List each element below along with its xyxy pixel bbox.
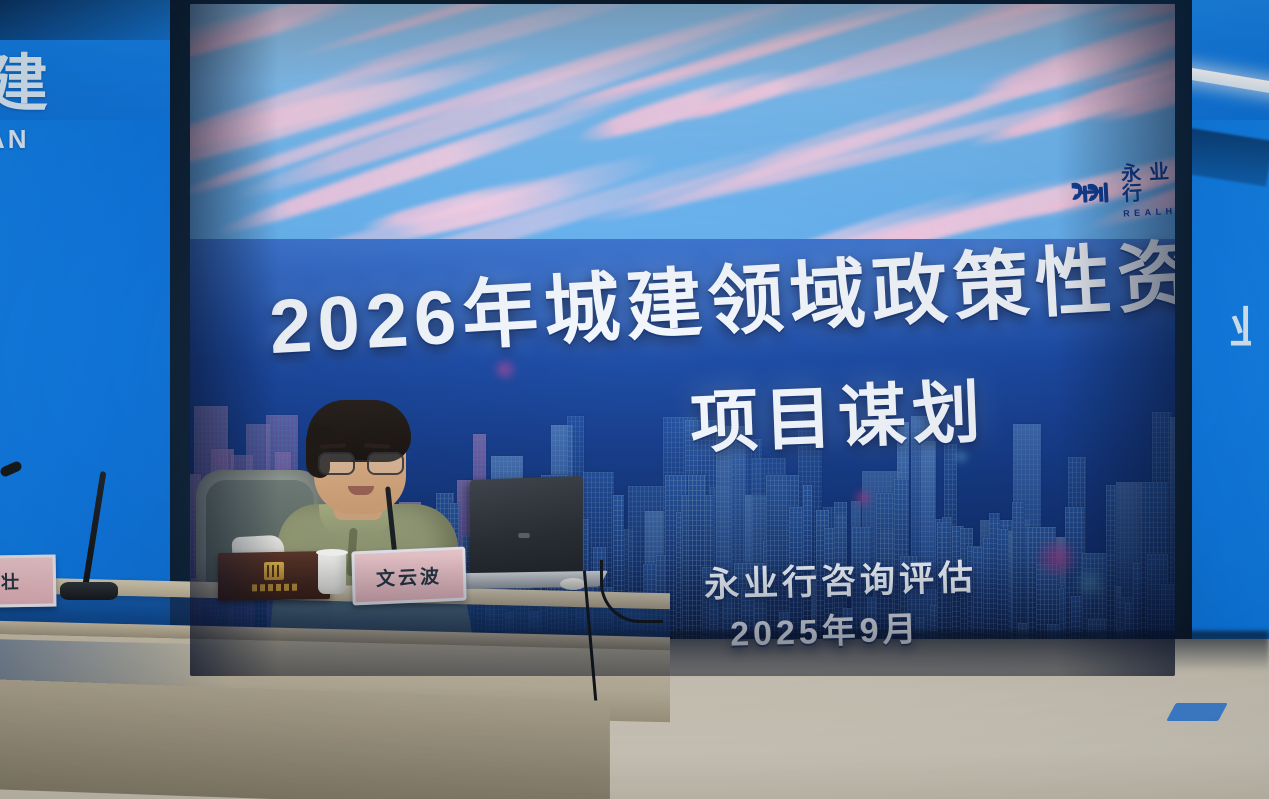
nameplate-secondary-label: 壮: [1, 568, 19, 594]
left-wall-sign-cn: 建: [0, 54, 58, 116]
left-wall-sign: 建 AN: [0, 54, 58, 179]
conference-room-scene: 建 AN 业 2026年城建领域政策性资金争取与 项目谋划 永业行咨询评估 20…: [0, 0, 1269, 799]
led-video-wall: 2026年城建领域政策性资金争取与 项目谋划 永业行咨询评估 2025年9月: [170, 0, 1192, 692]
slide-title-line-1: 2026年城建领域政策性资金争取与: [266, 195, 1175, 375]
right-wall-glyph: 业: [1229, 292, 1251, 376]
left-wall-sign-en: AN: [0, 126, 58, 152]
microphone-base-left[interactable]: [60, 582, 118, 600]
nameplate-secondary: 壮: [0, 554, 56, 607]
foreground-table-slab: [0, 679, 610, 799]
yh-monogram-icon: [1069, 175, 1115, 211]
slide-logo: 永业行 REALHOM: [1069, 161, 1175, 222]
logo-text: 永业行 REALHOM: [1121, 161, 1175, 219]
slide-title-line-2: 项目谋划: [688, 356, 988, 466]
logo-name-cn: 永业行: [1121, 161, 1175, 205]
slide-subtitle-organization: 永业行咨询评估: [703, 549, 977, 608]
screen-surface: 2026年城建领域政策性资金争取与 项目谋划 永业行咨询评估 2025年9月: [190, 4, 1175, 676]
floor-marker-tape: [1166, 703, 1228, 721]
slide-subtitle-date: 2025年9月: [729, 601, 921, 655]
slide-text-layer: 2026年城建领域政策性资金争取与 项目谋划 永业行咨询评估 2025年9月: [190, 4, 1175, 676]
